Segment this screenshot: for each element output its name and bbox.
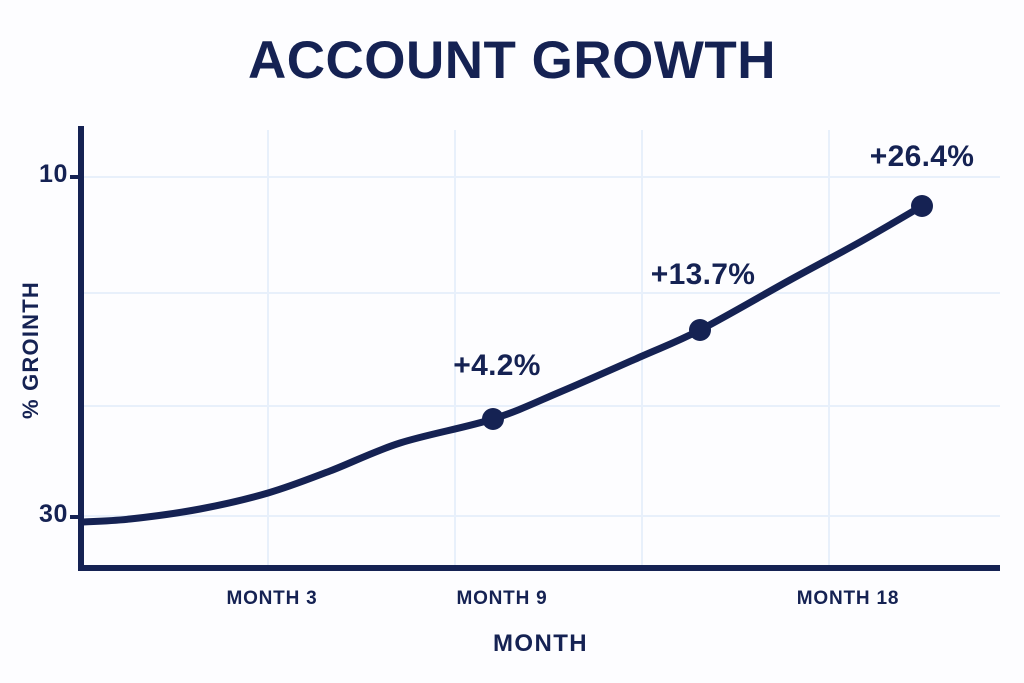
plot-area [0,0,1024,683]
data-point-marker-0 [482,408,504,430]
vertical-gridlines [268,130,829,568]
data-point-annotation: +26.4% [870,140,974,174]
horizontal-gridlines [81,177,1000,516]
x-tick-label: MONTH 3 [226,588,317,610]
axis-spines [78,126,1000,568]
data-point-marker-1 [689,319,711,341]
data-point-marker-2 [911,195,933,217]
x-axis-title: MONTH [81,630,1000,658]
x-tick-label: MONTH 18 [797,588,899,610]
chart-figure: ACCOUNT GROWTH % GROINTH 1030 MONTH 3MON… [0,0,1024,683]
data-point-annotation: +4.2% [453,349,540,383]
data-point-annotation: +13.7% [651,258,755,292]
x-tick-label: MONTH 9 [456,588,547,610]
